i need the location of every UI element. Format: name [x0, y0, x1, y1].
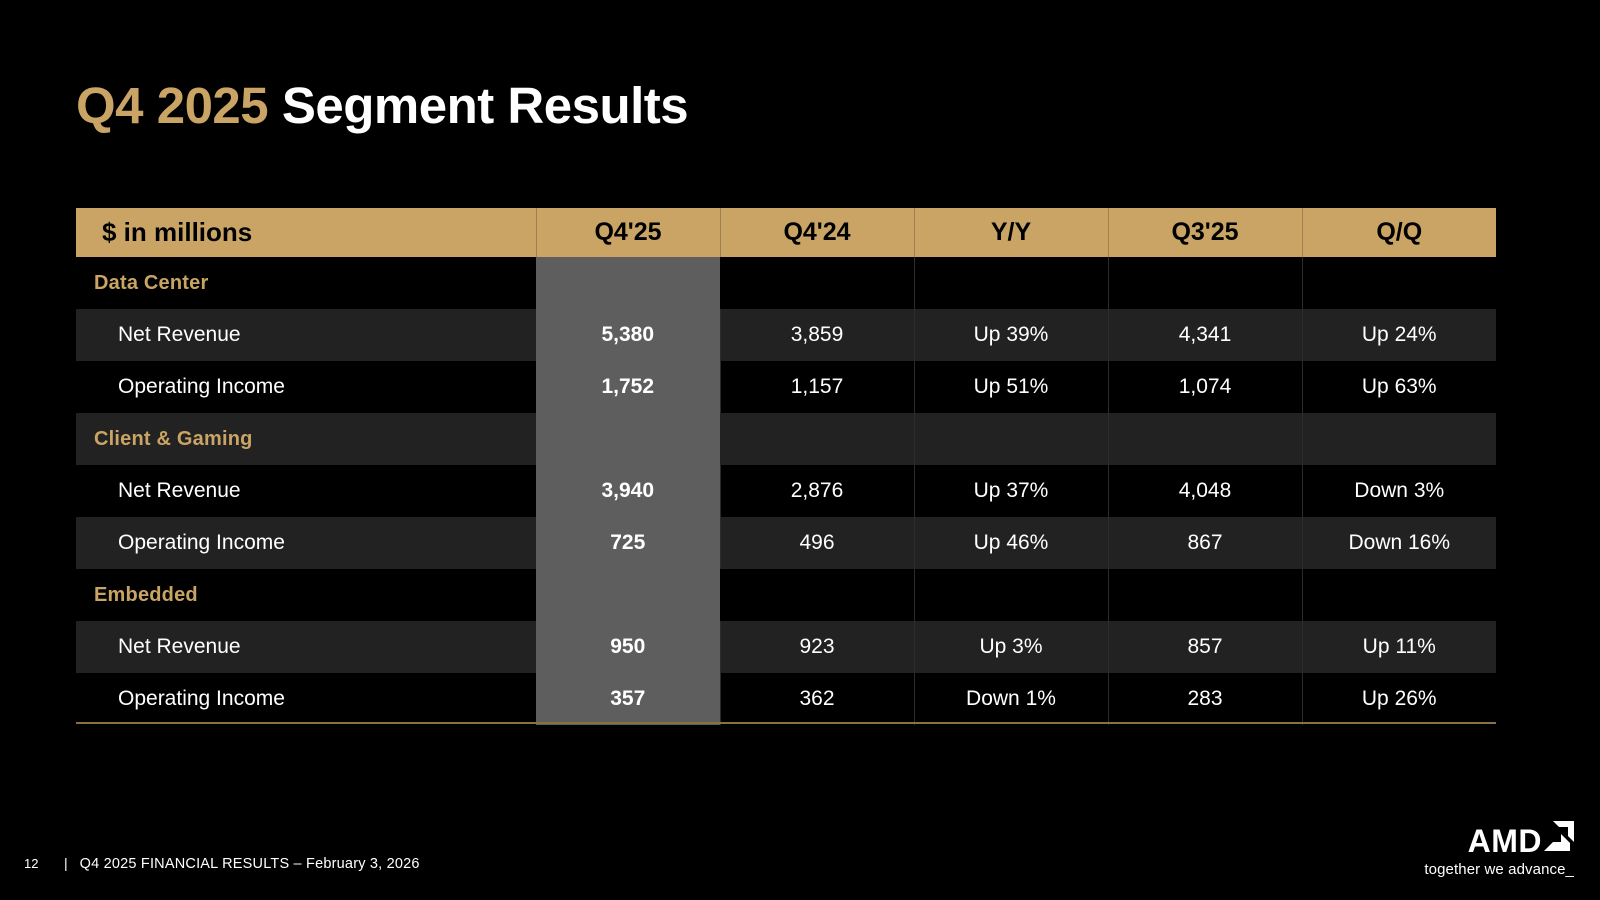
cell-q425: 357	[536, 673, 720, 725]
cell-q425: 950	[536, 621, 720, 673]
cell-q424: 3,859	[720, 309, 914, 361]
column-header-yy: Y/Y	[914, 208, 1108, 257]
cell-yy: Up 46%	[914, 517, 1108, 569]
cell-q325: 867	[1108, 517, 1302, 569]
column-header-qq: Q/Q	[1302, 208, 1496, 257]
amd-wordmark: AMD	[1468, 826, 1542, 856]
row-item-label: Operating Income	[76, 361, 536, 413]
cell-q424: 923	[720, 621, 914, 673]
table-body: Data Center Net Revenue 5,380 3,859 Up 3…	[76, 257, 1496, 725]
page-number: 12	[24, 856, 64, 871]
cell-qq: Up 63%	[1302, 361, 1496, 413]
section-blank-q325	[1108, 569, 1302, 621]
section-name: Embedded	[76, 569, 536, 621]
row-item-label: Operating Income	[76, 517, 536, 569]
cell-q424: 362	[720, 673, 914, 725]
cell-qq: Up 11%	[1302, 621, 1496, 673]
slide: Q4 2025 Segment Results $ in millions Q4…	[0, 0, 1600, 900]
section-header-row: Client & Gaming	[76, 413, 1496, 465]
cell-q424: 496	[720, 517, 914, 569]
cell-qq: Down 3%	[1302, 465, 1496, 517]
page-title: Q4 2025 Segment Results	[76, 76, 688, 135]
row-item-label: Net Revenue	[76, 309, 536, 361]
table-row: Operating Income 357 362 Down 1% 283 Up …	[76, 673, 1496, 725]
section-blank-qq	[1302, 413, 1496, 465]
amd-logo: AMD together we advance_	[1424, 821, 1574, 878]
section-blank-q424	[720, 413, 914, 465]
segment-results-table: $ in millions Q4'25 Q4'24 Y/Y Q3'25 Q/Q …	[76, 208, 1496, 725]
segment-results-table-wrap: $ in millions Q4'25 Q4'24 Y/Y Q3'25 Q/Q …	[76, 208, 1496, 725]
section-name: Client & Gaming	[76, 413, 536, 465]
cell-q425: 3,940	[536, 465, 720, 517]
section-blank-q424	[720, 257, 914, 309]
section-blank-q424	[720, 569, 914, 621]
cell-q425: 725	[536, 517, 720, 569]
page-title-highlight: Q4 2025	[76, 77, 268, 134]
table-row: Net Revenue 3,940 2,876 Up 37% 4,048 Dow…	[76, 465, 1496, 517]
cell-q325: 1,074	[1108, 361, 1302, 413]
table-row: Net Revenue 5,380 3,859 Up 39% 4,341 Up …	[76, 309, 1496, 361]
cell-q325: 857	[1108, 621, 1302, 673]
slide-footer: 12 | Q4 2025 FINANCIAL RESULTS – Februar…	[24, 855, 420, 872]
column-header-q425: Q4'25	[536, 208, 720, 257]
footer-text: Q4 2025 FINANCIAL RESULTS – February 3, …	[80, 856, 420, 872]
cell-yy: Up 3%	[914, 621, 1108, 673]
page-title-rest: Segment Results	[282, 77, 688, 134]
column-header-q325: Q3'25	[1108, 208, 1302, 257]
cell-yy: Down 1%	[914, 673, 1108, 725]
table-row: Operating Income 1,752 1,157 Up 51% 1,07…	[76, 361, 1496, 413]
cell-q424: 1,157	[720, 361, 914, 413]
amd-wordmark-group: AMD	[1424, 821, 1574, 856]
section-blank-q325	[1108, 257, 1302, 309]
column-header-label: $ in millions	[76, 208, 536, 257]
cell-q425: 5,380	[536, 309, 720, 361]
row-item-label: Net Revenue	[76, 465, 536, 517]
table-header: $ in millions Q4'25 Q4'24 Y/Y Q3'25 Q/Q	[76, 208, 1496, 257]
section-blank-q425	[536, 257, 720, 309]
section-blank-qq	[1302, 257, 1496, 309]
cell-q425: 1,752	[536, 361, 720, 413]
section-header-row: Data Center	[76, 257, 1496, 309]
row-item-label: Net Revenue	[76, 621, 536, 673]
cell-q325: 4,048	[1108, 465, 1302, 517]
cell-q325: 4,341	[1108, 309, 1302, 361]
cell-q424: 2,876	[720, 465, 914, 517]
table-header-row: $ in millions Q4'25 Q4'24 Y/Y Q3'25 Q/Q	[76, 208, 1496, 257]
amd-tagline: together we advance_	[1424, 861, 1574, 878]
table-row: Operating Income 725 496 Up 46% 867 Down…	[76, 517, 1496, 569]
section-header-row: Embedded	[76, 569, 1496, 621]
footer-separator: |	[64, 855, 68, 871]
column-header-q424: Q4'24	[720, 208, 914, 257]
section-name: Data Center	[76, 257, 536, 309]
cell-q325: 283	[1108, 673, 1302, 725]
section-blank-yy	[914, 257, 1108, 309]
cell-qq: Up 24%	[1302, 309, 1496, 361]
cell-yy: Up 37%	[914, 465, 1108, 517]
table-row: Net Revenue 950 923 Up 3% 857 Up 11%	[76, 621, 1496, 673]
amd-arrow-icon	[1544, 821, 1574, 856]
table-bottom-rule	[76, 722, 1496, 724]
section-blank-q425	[536, 413, 720, 465]
cell-qq: Up 26%	[1302, 673, 1496, 725]
section-blank-qq	[1302, 569, 1496, 621]
row-item-label: Operating Income	[76, 673, 536, 725]
section-blank-yy	[914, 413, 1108, 465]
section-blank-q425	[536, 569, 720, 621]
cell-yy: Up 51%	[914, 361, 1108, 413]
section-blank-yy	[914, 569, 1108, 621]
cell-yy: Up 39%	[914, 309, 1108, 361]
cell-qq: Down 16%	[1302, 517, 1496, 569]
section-blank-q325	[1108, 413, 1302, 465]
